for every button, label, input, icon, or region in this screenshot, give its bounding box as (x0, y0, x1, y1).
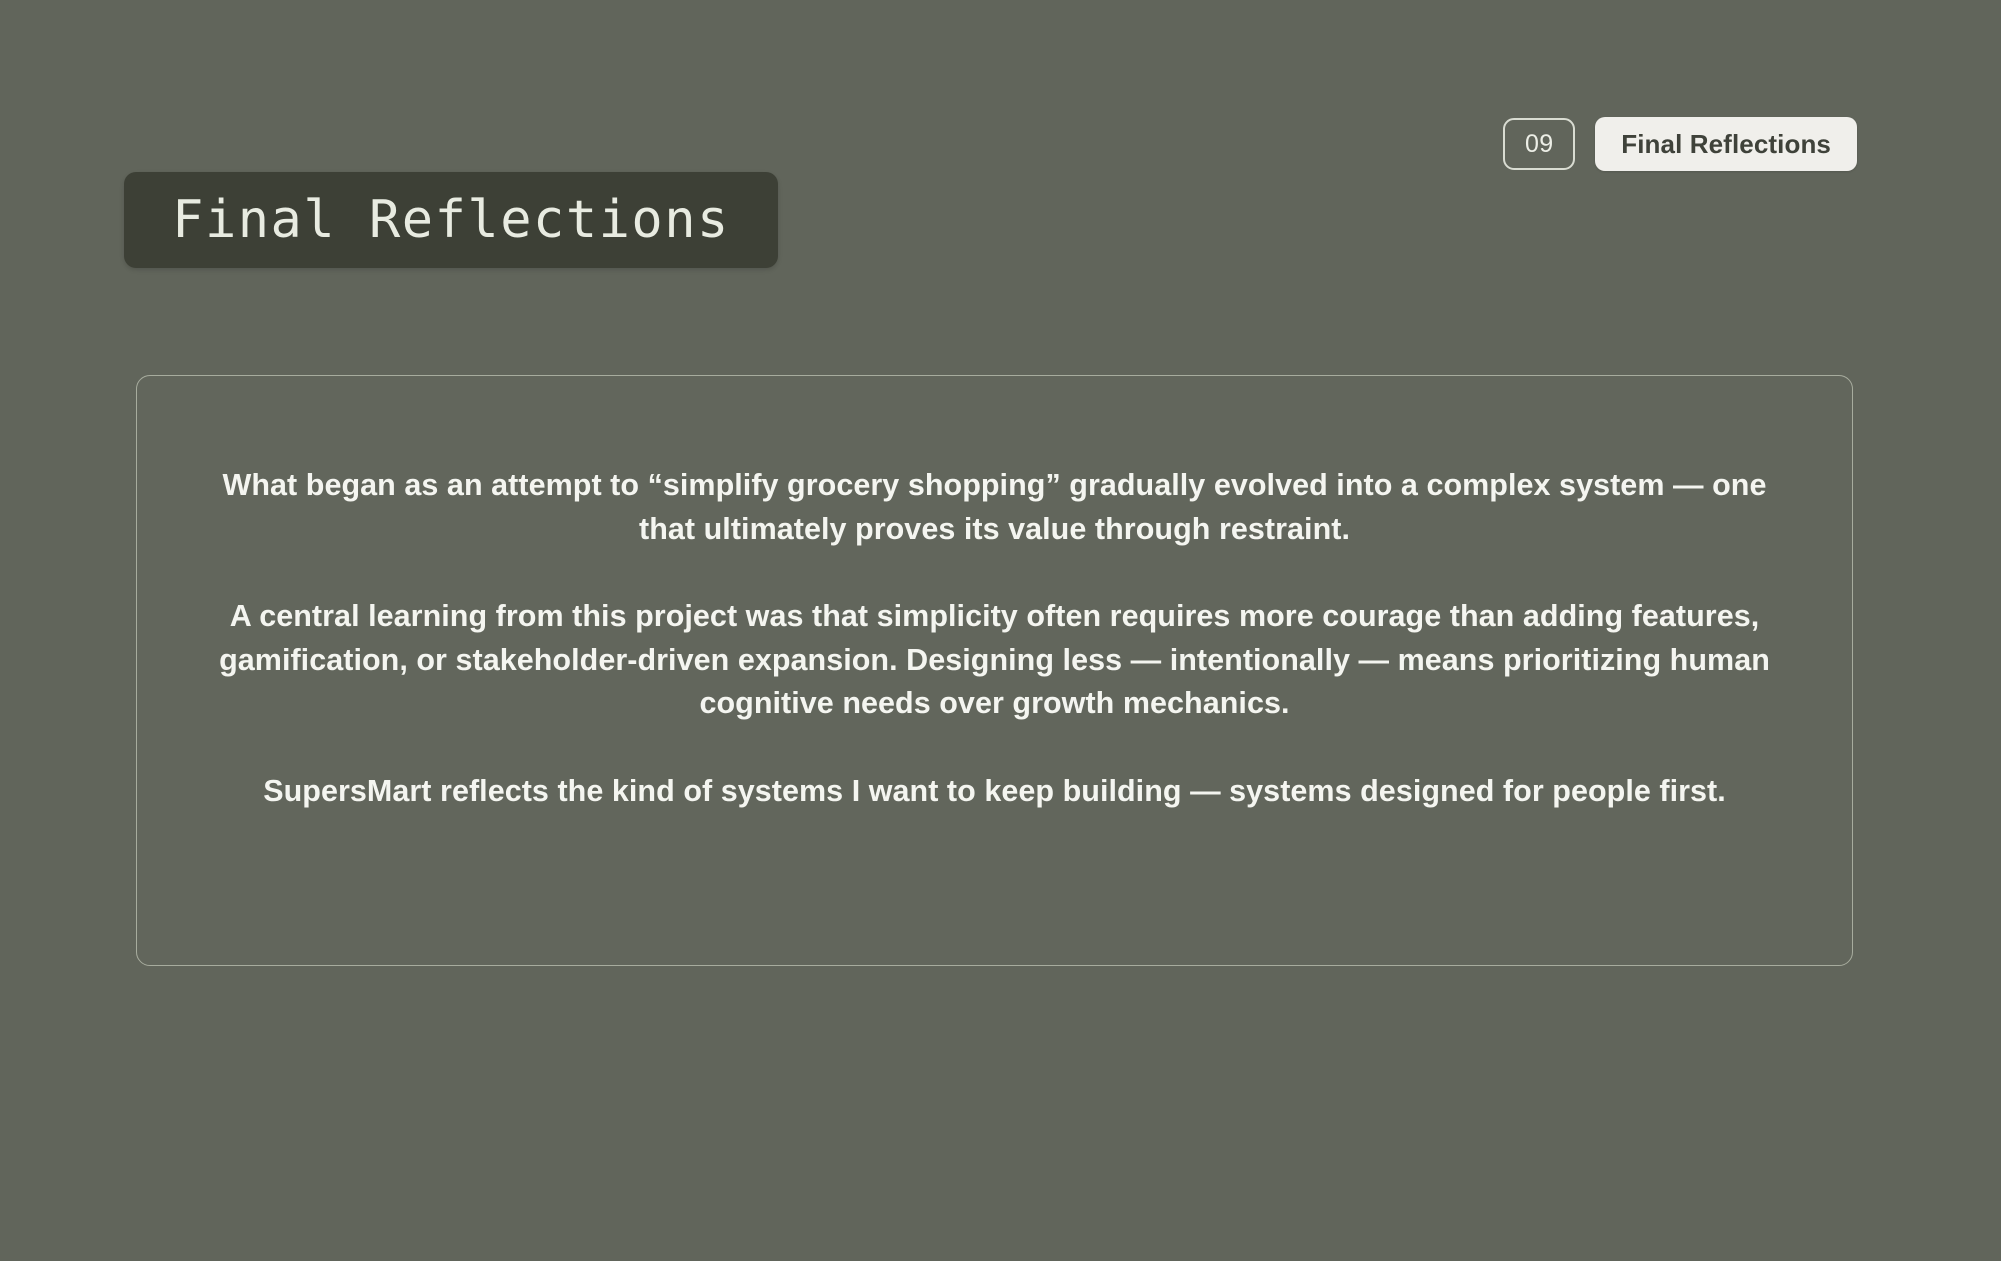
reflection-paragraph-2: A central learning from this project was… (215, 595, 1774, 726)
slide-title-plate: Final Reflections (124, 172, 778, 268)
section-label-pill: Final Reflections (1595, 117, 1857, 171)
slide-meta: 09 Final Reflections (1503, 117, 1857, 171)
reflections-card: What began as an attempt to “simplify gr… (136, 375, 1853, 966)
page-title: Final Reflections (172, 194, 730, 246)
reflection-paragraph-3: SupersMart reflects the kind of systems … (215, 770, 1774, 814)
slide-final-reflections: 09 Final Reflections Final Reflections W… (0, 0, 2001, 1261)
reflection-paragraph-1: What began as an attempt to “simplify gr… (215, 464, 1774, 551)
step-number-badge: 09 (1503, 118, 1575, 170)
